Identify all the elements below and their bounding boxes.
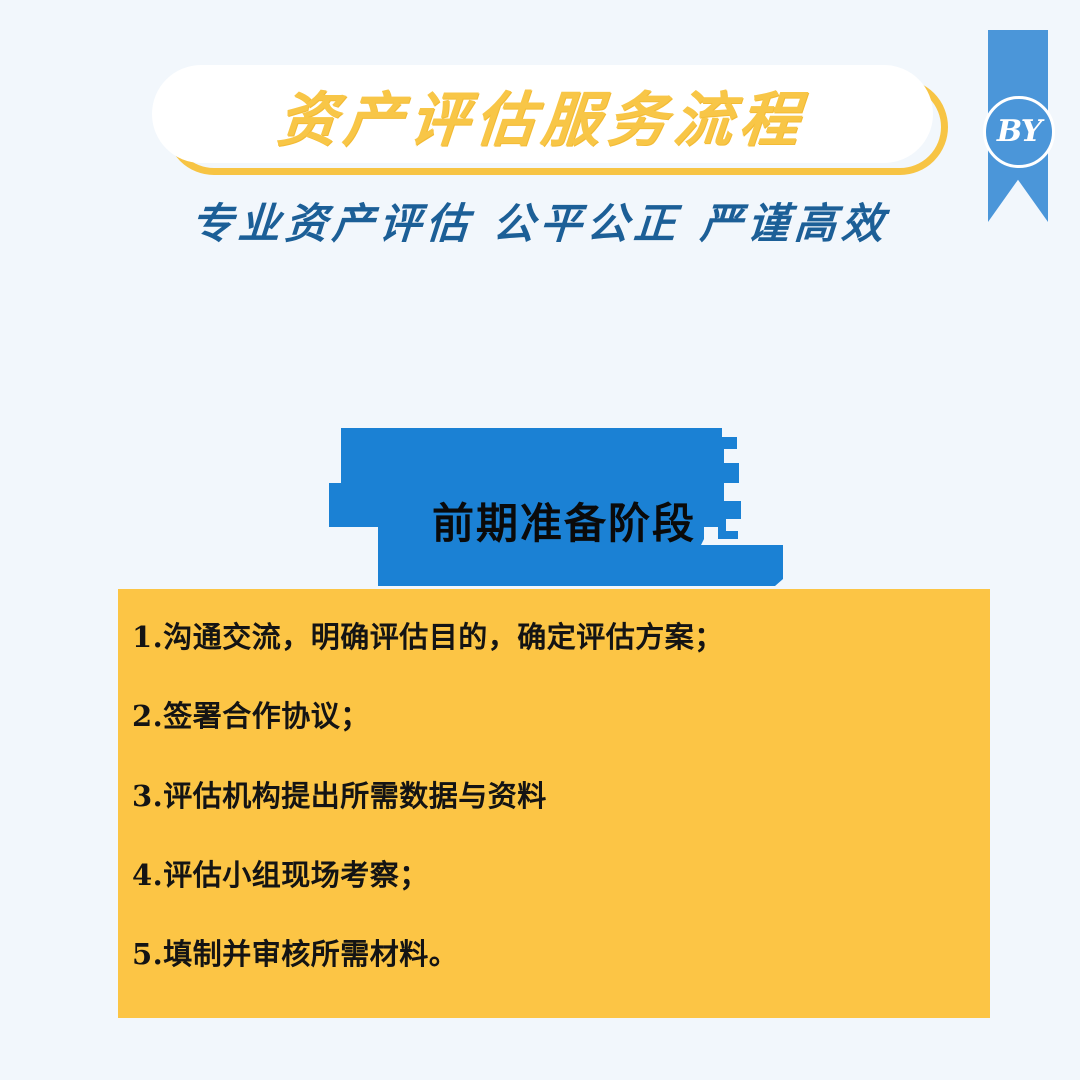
title-plate: 资产评估服务流程 <box>152 65 933 163</box>
list-item: 4.评估小组现场考察； <box>132 857 990 893</box>
list-item: 3.评估机构提出所需数据与资料 <box>132 778 990 814</box>
list-item: 2.签署合作协议； <box>132 698 990 734</box>
stage-label-wrap: 前期准备阶段 <box>326 427 786 586</box>
process-step-list: 1.沟通交流，明确评估目的，确定评估方案； 2.签署合作协议； 3.评估机构提出… <box>132 619 990 972</box>
page-subtitle: 专业资产评估 公平公正 严谨高效 <box>0 190 1080 251</box>
stage-banner: 前期准备阶段 <box>326 427 786 586</box>
page-title: 资产评估服务流程 <box>275 72 810 157</box>
stage-label: 前期准备阶段 <box>432 490 696 551</box>
list-item: 5.填制并审核所需材料。 <box>132 936 990 972</box>
brand-initials: BY <box>997 114 1041 149</box>
brand-seal-badge: BY <box>983 96 1055 168</box>
poster-canvas: 资产评估服务流程 BY 专业资产评估 公平公正 严谨高效 前期准备阶段 1.沟通… <box>0 0 1080 1080</box>
list-item: 1.沟通交流，明确评估目的，确定评估方案； <box>132 619 990 655</box>
content-card: 1.沟通交流，明确评估目的，确定评估方案； 2.签署合作协议； 3.评估机构提出… <box>118 589 990 1018</box>
title-banner: 资产评估服务流程 <box>152 65 948 177</box>
